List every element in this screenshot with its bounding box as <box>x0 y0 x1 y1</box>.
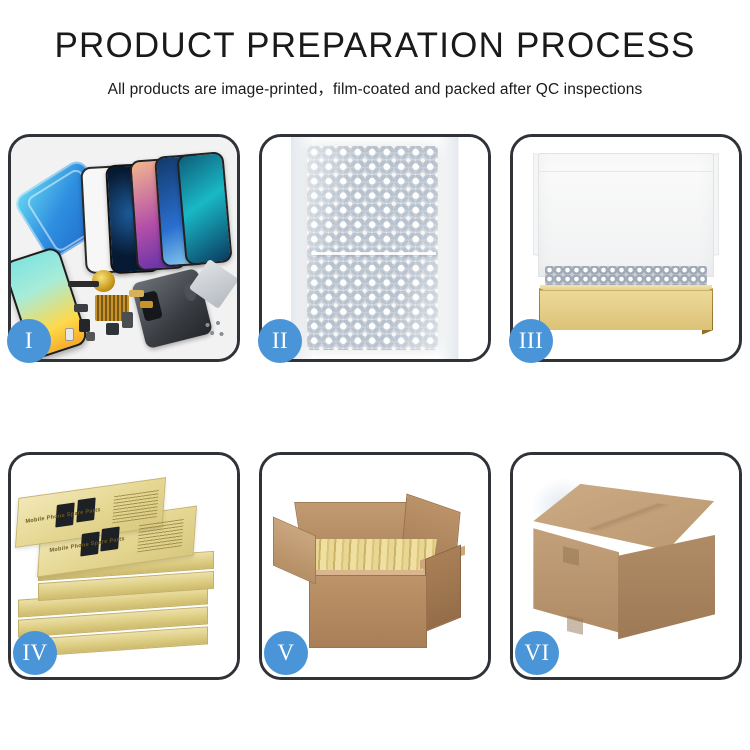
box-lid-white <box>538 153 714 277</box>
step-card-1[interactable]: I <box>8 134 240 362</box>
phone-screen-teal-icon <box>176 151 233 266</box>
step-card-5[interactable]: V <box>259 452 491 680</box>
step-card-6[interactable]: VI <box>510 452 742 680</box>
chip-part-icon <box>122 312 133 328</box>
step-badge-2: II <box>258 319 302 363</box>
carton-tape-mark <box>567 615 583 634</box>
chip-part-icon <box>106 323 120 334</box>
chip-part-icon <box>129 290 145 297</box>
header: PRODUCT PREPARATION PROCESS All products… <box>0 0 750 99</box>
steps-grid: I II <box>8 134 742 680</box>
carton-front-panel <box>309 575 427 648</box>
page-subtitle: All products are image-printed，film-coat… <box>0 77 750 99</box>
step-badge-5: V <box>264 631 308 675</box>
flex-cable-icon <box>68 281 100 287</box>
carton-right-panel <box>618 535 715 639</box>
screws-icon <box>203 319 226 339</box>
bubble-gloss <box>307 146 438 350</box>
step-badge-1: I <box>7 319 51 363</box>
step-badge-6: VI <box>515 631 559 675</box>
chip-part-icon <box>74 304 88 313</box>
step-card-2[interactable]: II <box>259 134 491 362</box>
chip-part-icon <box>65 328 74 341</box>
step-badge-3: III <box>509 319 553 363</box>
wrap-edge-right <box>438 137 458 359</box>
bubble-sheet <box>307 146 438 350</box>
step-badge-4: IV <box>13 631 57 675</box>
page-title: PRODUCT PREPARATION PROCESS <box>0 26 750 66</box>
chip-part-icon <box>86 332 95 341</box>
carton-side-panel <box>425 545 461 633</box>
chip-part-icon <box>140 301 154 308</box>
wrap-fold-line <box>312 252 436 255</box>
step-card-4[interactable]: Mobile Phone Spare Parts Mobile Phone Sp… <box>8 452 240 680</box>
step-card-3[interactable]: III <box>510 134 742 362</box>
box-front-panel <box>540 290 712 330</box>
product-preparation-infographic: PRODUCT PREPARATION PROCESS All products… <box>0 0 750 750</box>
chip-part-icon <box>79 319 90 332</box>
